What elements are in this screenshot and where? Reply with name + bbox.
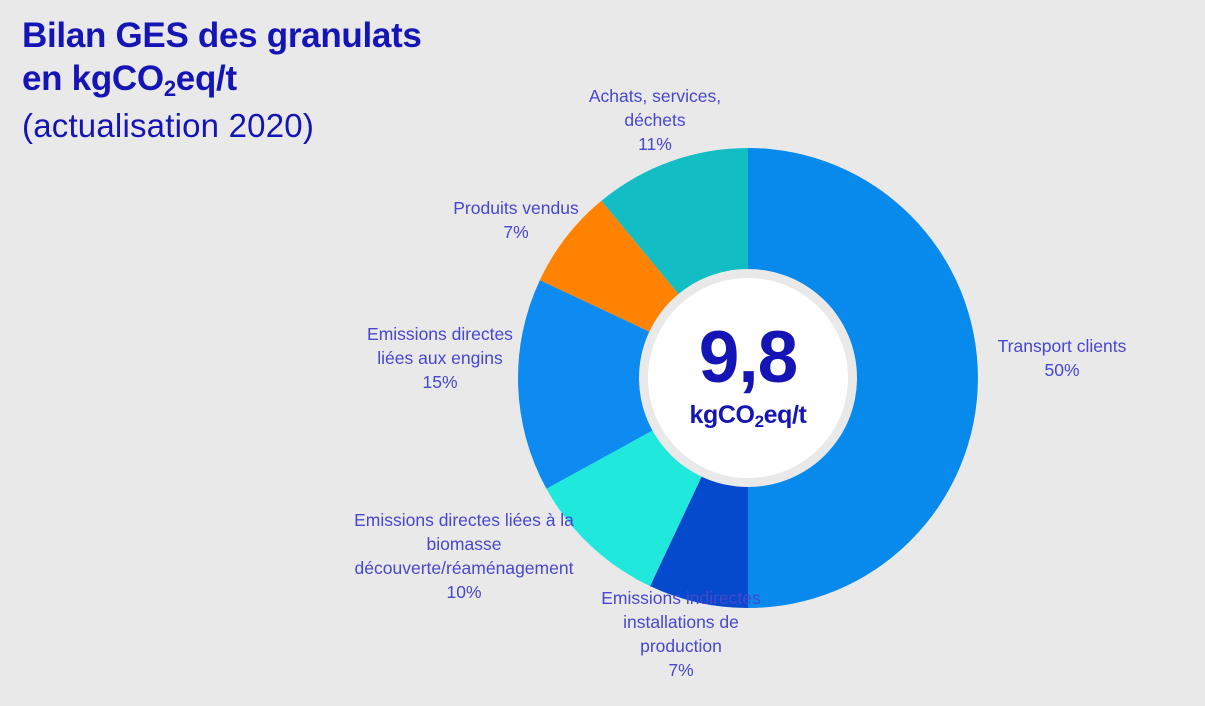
slice-label-transport-clients: Transport clients 50% xyxy=(962,310,1162,406)
slice-label-indirectes-name: Emissions indirectes installations de pr… xyxy=(601,588,761,656)
center-unit-suffix: eq/t xyxy=(764,401,807,429)
center-unit-subscript: 2 xyxy=(755,412,764,431)
slice-label-produits-name: Produits vendus xyxy=(453,198,579,218)
center-unit-prefix: kgCO xyxy=(690,401,755,429)
slice-label-emissions-directes-engins: Emissions directes liées aux engins 15% xyxy=(340,298,540,418)
slice-label-produits-percent: 7% xyxy=(420,220,612,244)
page-title-line-1: Bilan GES des granulats xyxy=(22,14,492,57)
slice-label-produits-vendus: Produits vendus 7% xyxy=(420,172,612,268)
slice-label-achats-services-dechets: Achats, services, déchets 11% xyxy=(545,60,765,180)
slice-label-transport-name: Transport clients xyxy=(998,336,1127,356)
page-subtitle: (actualisation 2020) xyxy=(22,104,492,147)
title-unit-prefix: en kgCO xyxy=(22,59,164,98)
title-unit-suffix: eq/t xyxy=(176,59,237,98)
slice-label-biomasse-percent: 10% xyxy=(330,580,598,604)
center-unit: kgCO2eq/t xyxy=(690,400,807,433)
slice-label-emissions-indirectes-installations: Emissions indirectes installations de pr… xyxy=(570,562,792,706)
slice-label-achats-percent: 11% xyxy=(545,132,765,156)
slice-label-biomasse-name: Emissions directes liées à la biomasse d… xyxy=(354,510,574,578)
center-value: 9,8 xyxy=(699,324,797,392)
page-title-line-2: en kgCO2eq/t xyxy=(22,57,492,104)
title-block: Bilan GES des granulats en kgCO2eq/t (ac… xyxy=(22,14,492,147)
slice-label-indirectes-percent: 7% xyxy=(570,658,792,682)
slice-label-achats-name: Achats, services, déchets xyxy=(589,86,721,130)
donut-center-figure: 9,8 kgCO2eq/t xyxy=(648,278,848,478)
slice-label-engins-percent: 15% xyxy=(340,370,540,394)
slice-label-transport-percent: 50% xyxy=(962,358,1162,382)
title-unit-subscript: 2 xyxy=(164,76,176,101)
slice-label-emissions-directes-biomasse: Emissions directes liées à la biomasse d… xyxy=(330,484,598,628)
slice-label-engins-name: Emissions directes liées aux engins xyxy=(367,324,513,368)
